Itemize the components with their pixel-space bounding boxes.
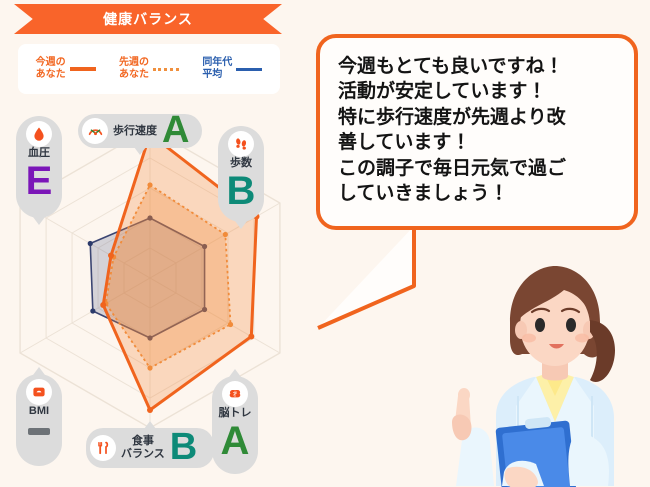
badge-diet-balance[interactable]: 食事 バランス B (86, 428, 214, 468)
radar-data-point (147, 407, 153, 413)
badge-grade-walking-speed: A (162, 111, 189, 149)
radar-data-point (108, 253, 114, 259)
legend-swatch-last-week (153, 68, 179, 71)
cutlery-icon (90, 435, 116, 461)
legend-label-last-week: 先週の あなた (119, 57, 149, 82)
badge-label-step-count: 歩数 (230, 157, 252, 170)
legend-label-this-week: 今週の あなた (36, 57, 66, 82)
brain-icon (222, 381, 248, 407)
legend-item-age-average: 同年代 平均 (202, 57, 262, 82)
radar-data-point (88, 241, 93, 246)
health-balance-card: 健康バランス 今週の あなた 先週の あなた 同年代 平均 血圧 E (0, 0, 650, 487)
badge-label-bmi: BMI (29, 405, 49, 418)
badge-label-walking-speed: 歩行速度 (113, 125, 157, 138)
advice-text: 今週もとても良いですね！ 活動が安定しています！ 特に歩行速度が先週より改 善し… (338, 54, 620, 207)
badge-grade-step-count: B (227, 171, 256, 211)
radar-data-point (90, 308, 95, 313)
chart-legend: 今週の あなた 先週の あなた 同年代 平均 (18, 44, 280, 94)
badge-grade-diet-balance: B (170, 428, 197, 466)
legend-swatch-this-week (70, 67, 96, 71)
footprints-icon (228, 131, 254, 157)
advisor-character (452, 246, 650, 487)
radar-data-point (248, 334, 254, 340)
legend-item-this-week: 今週の あなた (36, 57, 96, 82)
blood-drop-icon (26, 121, 52, 147)
badge-grade-bmi (28, 428, 50, 435)
badge-brain-training[interactable]: 脳トレ A (212, 376, 258, 474)
legend-label-age-average: 同年代 平均 (202, 57, 232, 82)
radar-data-point (100, 302, 106, 308)
badge-walking-speed[interactable]: 歩行速度 A (78, 114, 202, 148)
speedometer-icon (82, 118, 108, 144)
scale-icon (26, 379, 52, 405)
badge-step-count[interactable]: 歩数 B (218, 126, 264, 222)
legend-item-last-week: 先週の あなた (119, 57, 179, 82)
banner-title: 健康バランス (14, 4, 282, 34)
advice-speech-bubble: 今週もとても良いですね！ 活動が安定しています！ 特に歩行速度が先週より改 善し… (316, 34, 638, 230)
badge-bmi[interactable]: BMI (16, 374, 62, 466)
badge-label-diet-balance: 食事 バランス (121, 435, 165, 460)
badge-grade-blood-pressure: E (26, 161, 53, 201)
badge-label-blood-pressure: 血圧 (28, 147, 50, 160)
badge-blood-pressure[interactable]: 血圧 E (16, 116, 62, 218)
badge-label-brain-training: 脳トレ (219, 407, 252, 420)
legend-swatch-age-average (236, 68, 262, 71)
badge-grade-brain-training: A (221, 421, 250, 461)
